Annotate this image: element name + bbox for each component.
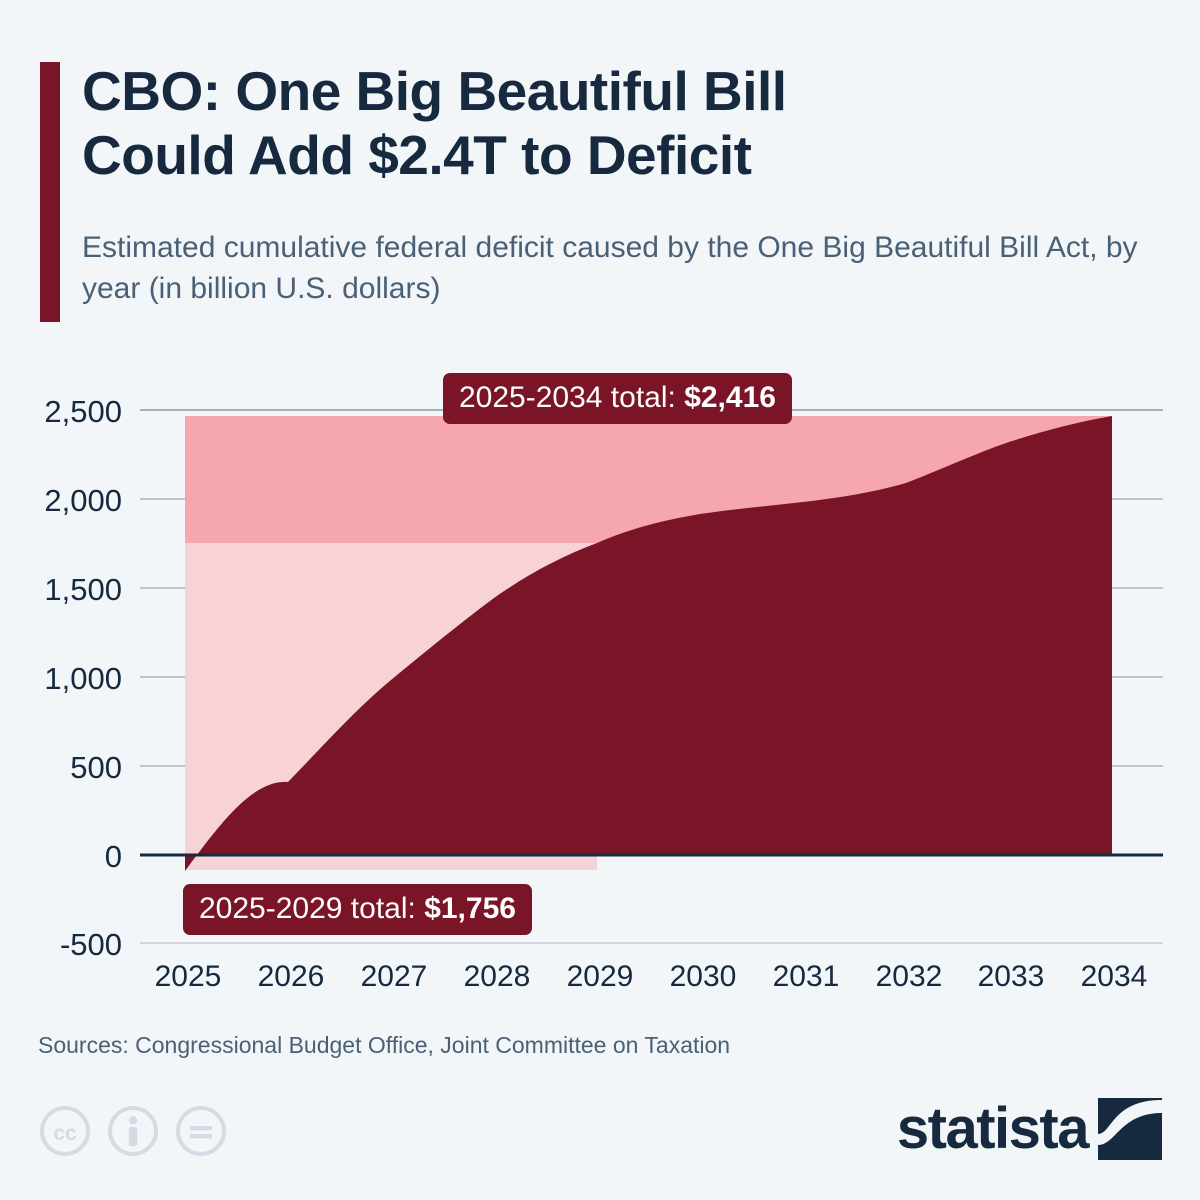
deficit-area-chart: 2,500 2,000 1,500 1,000 500 0 -500 2025 … — [0, 350, 1200, 1010]
x-axis-tick-labels: 2025 2026 2027 2028 2029 2030 2031 2032 … — [155, 960, 1148, 993]
license-icon-group: cc — [38, 1104, 228, 1158]
x-tick-2028: 2028 — [464, 960, 531, 993]
no-derivatives-equals-icon[interactable] — [174, 1104, 228, 1158]
statista-mark-icon — [1098, 1098, 1162, 1160]
sources-text: Sources: Congressional Budget Office, Jo… — [38, 1032, 730, 1059]
chart-svg: 2,500 2,000 1,500 1,000 500 0 -500 2025 … — [0, 350, 1200, 1010]
x-tick-2027: 2027 — [361, 960, 428, 993]
y-tick-1000: 1,000 — [44, 661, 122, 696]
cc-icon[interactable]: cc — [38, 1104, 92, 1158]
x-tick-2030: 2030 — [670, 960, 737, 993]
x-tick-2033: 2033 — [978, 960, 1045, 993]
x-tick-2029: 2029 — [567, 960, 634, 993]
y-tick-minus-500: -500 — [60, 927, 122, 962]
annotation-total-2025-2034-value: $2,416 — [684, 381, 776, 414]
y-tick-0: 0 — [105, 839, 122, 874]
page-title-line-2: Could Add $2.4T to Deficit — [82, 124, 751, 186]
annotation-total-2025-2029-value: $1,756 — [424, 892, 516, 925]
x-tick-2025: 2025 — [155, 960, 222, 993]
y-tick-2500: 2,500 — [44, 394, 122, 429]
annotation-total-2025-2029-prefix: 2025-2029 total: — [199, 892, 424, 925]
y-tick-2000: 2,000 — [44, 483, 122, 518]
page-subtitle: Estimated cumulative federal deficit cau… — [82, 228, 1162, 309]
x-tick-2034: 2034 — [1081, 960, 1148, 993]
svg-text:cc: cc — [53, 1122, 77, 1145]
y-axis-tick-labels: 2,500 2,000 1,500 1,000 500 0 -500 — [44, 394, 122, 962]
y-tick-1500: 1,500 — [44, 572, 122, 607]
attribution-person-icon[interactable] — [106, 1104, 160, 1158]
annotation-total-2025-2029: 2025-2029 total: $1,756 — [183, 884, 532, 935]
page-title: CBO: One Big Beautiful Bill Could Add $2… — [82, 60, 1172, 188]
statista-wordmark: statista — [897, 1100, 1088, 1158]
x-tick-2031: 2031 — [773, 960, 840, 993]
x-tick-2032: 2032 — [876, 960, 943, 993]
infographic-header: CBO: One Big Beautiful Bill Could Add $2… — [0, 0, 1200, 350]
x-tick-2026: 2026 — [258, 960, 325, 993]
y-tick-500: 500 — [70, 750, 122, 785]
annotation-total-2025-2034-prefix: 2025-2034 total: — [459, 381, 684, 414]
page-title-line-1: CBO: One Big Beautiful Bill — [82, 60, 787, 122]
title-accent-bar — [40, 62, 60, 322]
statista-logo[interactable]: statista — [897, 1098, 1162, 1160]
annotation-total-2025-2034: 2025-2034 total: $2,416 — [443, 373, 792, 424]
